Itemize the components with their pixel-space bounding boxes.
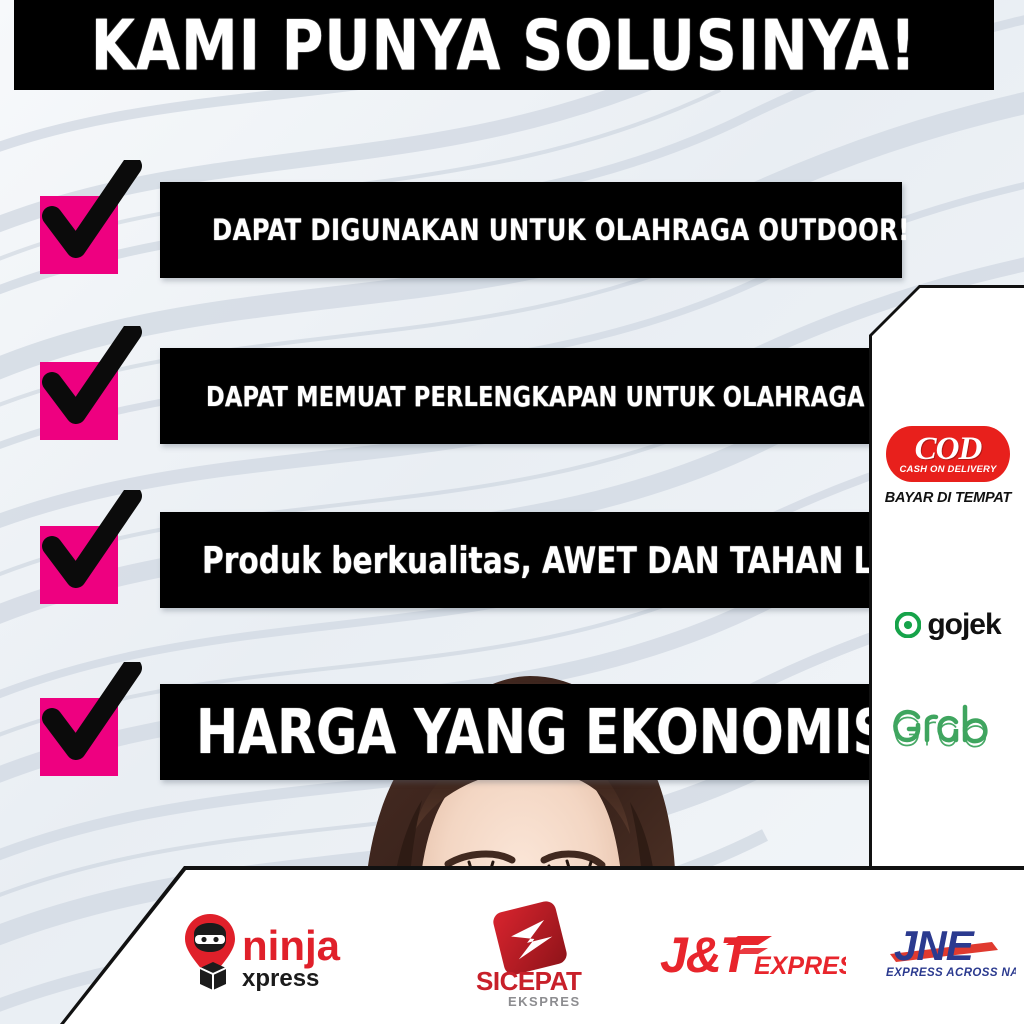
poster-canvas: KAMI PUNYA SOLUSINYA! DAPAT DIGUNAKAN UN… [0,0,1024,1024]
cod-block: COD CASH ON DELIVERY BAYAR DI TEMPAT [872,426,1024,506]
grab-logo [872,700,1024,752]
courier-logo-sicepat: SICEPAT EKSPRES [468,898,600,1010]
feature-banner-1: DAPAT DIGUNAKAN UNTUK OLAHRAGA OUTDOOR! [160,182,902,278]
checkbox-1 [40,196,118,274]
jne-tagline: EXPRESS ACROSS NATIONS [886,967,1016,979]
svg-text:JNE: JNE [894,922,976,969]
cod-badge: COD CASH ON DELIVERY [886,426,1010,482]
courier-logo-jne: JNE EXPRESS ACROSS NATIONS [880,920,1016,982]
checkbox-2 [40,362,118,440]
feature-banner-3: Produk berkualitas, AWET DAN TAHAN LAMA! [160,512,902,608]
cod-label: COD [915,434,982,464]
checkbox-4 [40,698,118,776]
grab-wordmark-icon [889,700,1007,752]
courier-logo-jnt-express: J&T EXPRESS [660,928,846,988]
jne-wordmark-icon: JNE [890,922,998,969]
courier-logo-ninja-xpress: ninja xpress [180,910,344,996]
feature-label: HARGA YANG EKONOMIS! [196,696,912,768]
feature-label: Produk berkualitas, AWET DAN TAHAN LAMA! [202,539,962,582]
gojek-circle-icon [895,612,921,638]
page-title: KAMI PUNYA SOLUSINYA! [91,4,917,86]
ekspres-wordmark: EKSPRES [508,994,581,1009]
feature-banner-4: HARGA YANG EKONOMIS! [160,684,902,780]
cod-sublabel: CASH ON DELIVERY [900,464,997,475]
payment-methods-panel: COD CASH ON DELIVERY BAYAR DI TEMPAT goj… [872,288,1024,878]
feature-banner-2: DAPAT MEMUAT PERLENGKAPAN UNTUK OLAHRAGA… [160,348,902,444]
ninja-box-icon [200,962,226,990]
gojek-wordmark: gojek [927,610,1000,640]
checkbox-3 [40,526,118,604]
sicepat-wordmark: SICEPAT [476,966,582,996]
feature-label: DAPAT DIGUNAKAN UNTUK OLAHRAGA OUTDOOR! [212,213,910,247]
feature-label: DAPAT MEMUAT PERLENGKAPAN UNTUK OLAHRAGA… [206,380,959,412]
express-wordmark: EXPRESS [754,952,846,980]
cod-tagline: BAYAR DI TEMPAT [872,490,1024,506]
gojek-logo: gojek [872,610,1024,640]
xpress-wordmark: xpress [242,965,319,992]
ninja-wordmark: ninja [242,922,341,969]
header-banner: KAMI PUNYA SOLUSINYA! [14,0,994,90]
